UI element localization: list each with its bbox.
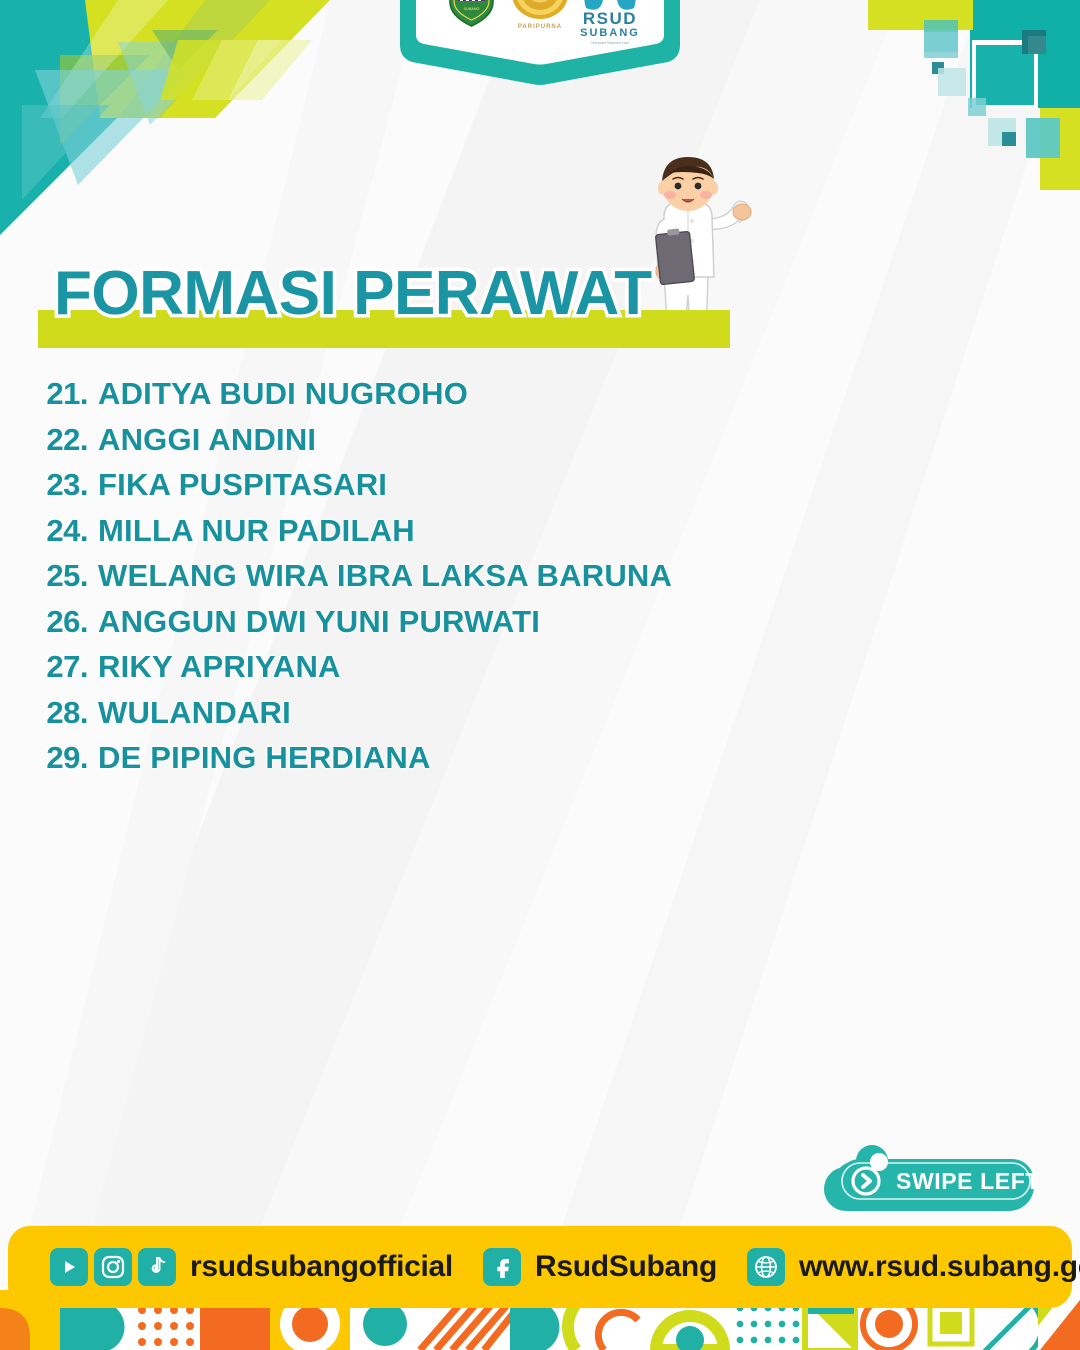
tiktok-icon[interactable] xyxy=(138,1248,176,1286)
list-item: 26.ANGGUN DWI YUNI PURWATI xyxy=(0,604,900,650)
list-item-number: 26. xyxy=(0,604,88,640)
svg-text:RSUD: RSUD xyxy=(583,9,637,28)
list-item: 21.ADITYA BUDI NUGROHO xyxy=(0,376,900,422)
list-item-number: 27. xyxy=(0,649,88,685)
decoration-top-left xyxy=(0,0,330,250)
list-item-name: FIKA PUSPITASARI xyxy=(98,467,387,503)
svg-text:SUBANG: SUBANG xyxy=(580,27,640,39)
list-item: 24.MILLA NUR PADILAH xyxy=(0,513,900,559)
website-label: www.rsud.subang.go.id xyxy=(799,1250,1080,1284)
list-item-name: DE PIPING HERDIANA xyxy=(98,740,431,776)
list-item-number: 28. xyxy=(0,695,88,731)
poster-canvas: KABUPATEN SUBANG KARS PARIPURNA xyxy=(0,0,1080,1350)
list-item-name: WELANG WIRA IBRA LAKSA BARUNA xyxy=(98,558,672,594)
website-group: www.rsud.subang.go.id xyxy=(747,1248,1080,1286)
social-handle-label: rsudsubangofficial xyxy=(190,1250,453,1284)
nurse-formation-list: 21.ADITYA BUDI NUGROHO22.ANGGI ANDINI23.… xyxy=(0,376,900,786)
list-item-name: ADITYA BUDI NUGROHO xyxy=(98,376,468,412)
page-title-block: FORMASI PERAWAT xyxy=(38,262,738,348)
list-item: 29.DE PIPING HERDIANA xyxy=(0,740,900,786)
swipe-left-button[interactable]: SWIPE LEFT xyxy=(824,1145,1042,1217)
list-item-number: 22. xyxy=(0,422,88,458)
svg-text:SUBANG: SUBANG xyxy=(463,7,479,11)
footer-contact-bar: rsudsubangofficial RsudSubang www.rs xyxy=(8,1226,1072,1308)
svg-text:PARIPURNA: PARIPURNA xyxy=(518,24,562,30)
globe-icon[interactable] xyxy=(747,1248,785,1286)
social-handle-group: rsudsubangofficial xyxy=(50,1248,453,1286)
facebook-handle-label: RsudSubang xyxy=(535,1250,717,1284)
list-item-name: MILLA NUR PADILAH xyxy=(98,513,415,549)
list-item-number: 23. xyxy=(0,467,88,503)
instagram-icon[interactable] xyxy=(94,1248,132,1286)
list-item: 28.WULANDARI xyxy=(0,695,900,741)
list-item-number: 25. xyxy=(0,558,88,594)
list-item-number: 21. xyxy=(0,376,88,412)
page-title: FORMASI PERAWAT xyxy=(54,262,652,325)
list-item-number: 29. xyxy=(0,740,88,776)
decoration-top-right xyxy=(850,0,1080,190)
list-item: 27.RIKY APRIYANA xyxy=(0,649,900,695)
facebook-group: RsudSubang xyxy=(483,1248,717,1286)
list-item: 22.ANGGI ANDINI xyxy=(0,422,900,468)
list-item: 23.FIKA PUSPITASARI xyxy=(0,467,900,513)
list-item-number: 24. xyxy=(0,513,88,549)
list-item-name: ANGGI ANDINI xyxy=(98,422,316,458)
facebook-icon[interactable] xyxy=(483,1248,521,1286)
svg-text:Melayani Sepenuh Hati: Melayani Sepenuh Hati xyxy=(591,41,628,45)
list-item-name: WULANDARI xyxy=(98,695,291,731)
list-item-name: RIKY APRIYANA xyxy=(98,649,341,685)
list-item-name: ANGGUN DWI YUNI PURWATI xyxy=(98,604,540,640)
youtube-icon[interactable] xyxy=(50,1248,88,1286)
header-banner: KABUPATEN SUBANG KARS PARIPURNA xyxy=(390,0,690,135)
list-item: 25.WELANG WIRA IBRA LAKSA BARUNA xyxy=(0,558,900,604)
swipe-left-label: SWIPE LEFT xyxy=(896,1168,1040,1195)
